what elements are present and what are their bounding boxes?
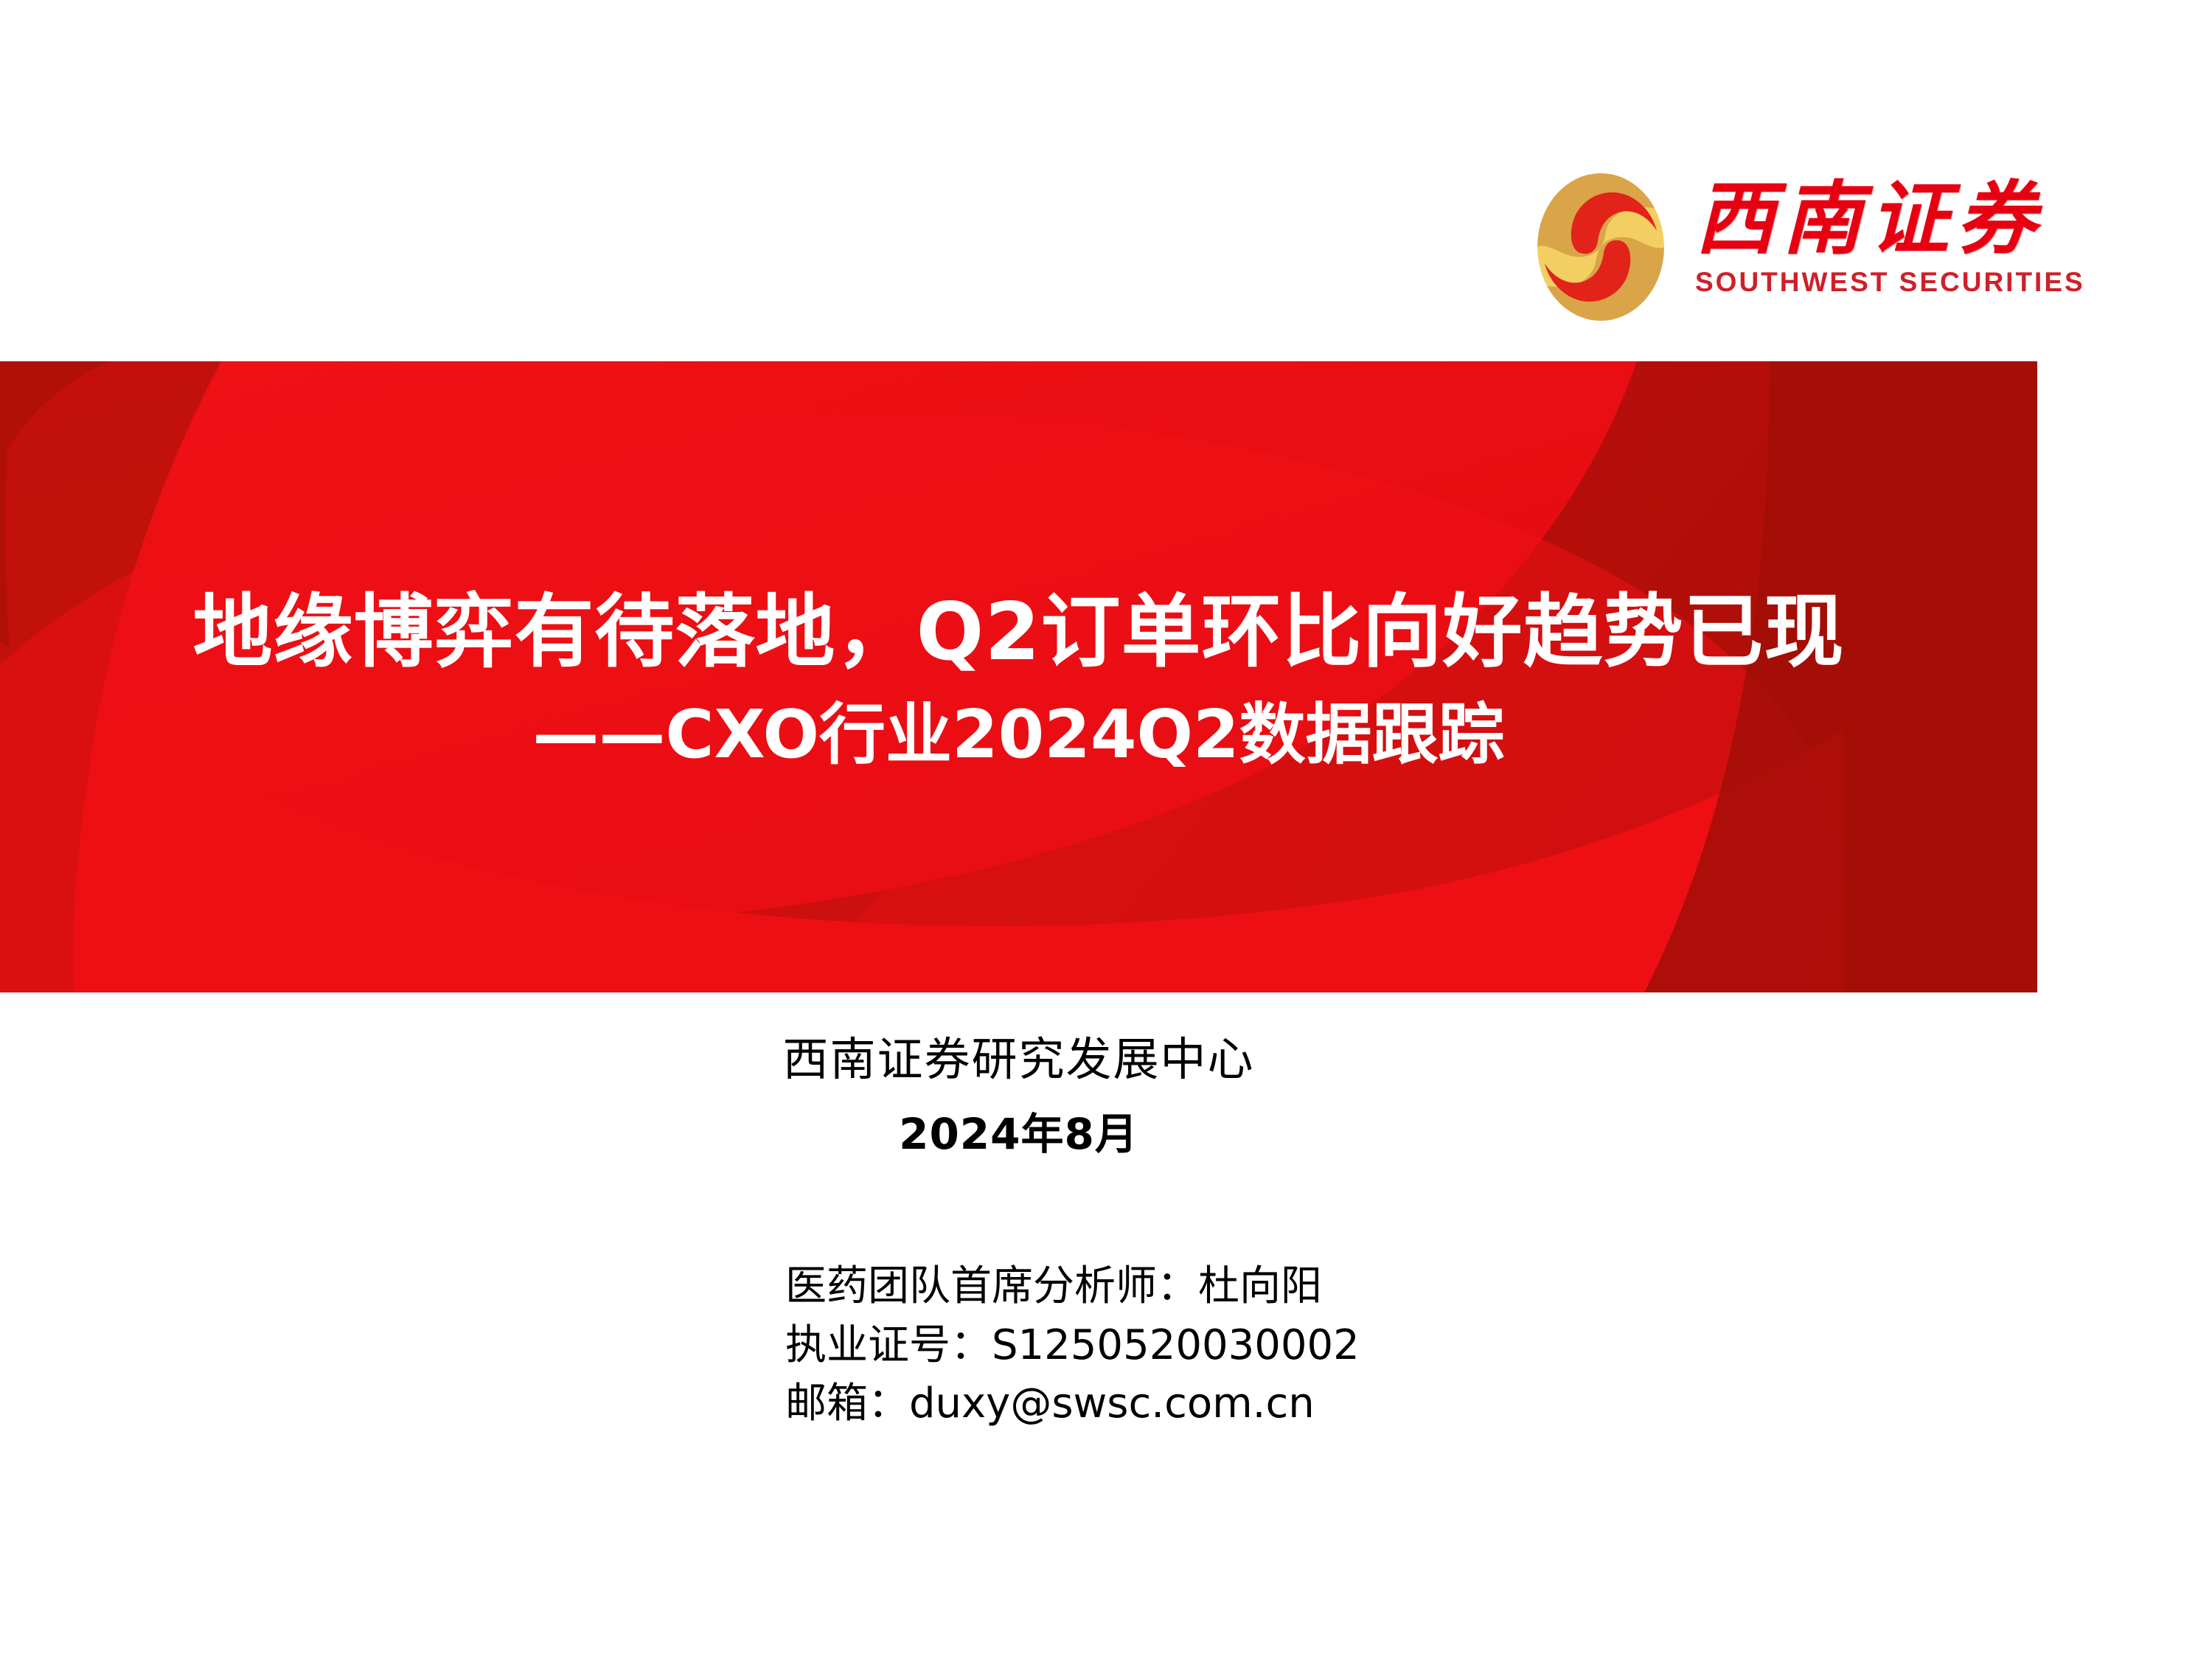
report-date: 2024年8月 — [0, 1107, 2037, 1162]
analyst-name-line: 医药团队首席分析师：杜向阳 — [785, 1257, 1360, 1316]
logo-english-name: SOUTHWEST SECURITIES — [1695, 267, 2085, 298]
department-name: 西南证券研究发展中心 — [0, 1029, 2037, 1091]
report-title: 地缘博弈有待落地，Q2订单环比向好趋势已现 — [193, 582, 1845, 684]
department-block: 西南证券研究发展中心 2024年8月 — [0, 1029, 2037, 1162]
banner-text-group: 地缘博弈有待落地，Q2订单环比向好趋势已现 ——CXO行业2024Q2数据跟踪 — [0, 361, 2037, 992]
southwest-securities-emblem-icon — [1537, 173, 1664, 321]
analyst-license-line: 执业证号：S1250520030002 — [785, 1316, 1360, 1375]
analyst-info-block: 医药团队首席分析师：杜向阳 执业证号：S1250520030002 邮箱：dux… — [785, 1257, 1360, 1433]
company-logo: 西南证券 SOUTHWEST SECURITIES — [1537, 173, 2098, 324]
logo-wordmark: 西南证券 SOUTHWEST SECURITIES — [1695, 173, 2085, 298]
title-banner: 地缘博弈有待落地，Q2订单环比向好趋势已现 ——CXO行业2024Q2数据跟踪 — [0, 361, 2037, 992]
analyst-email-line: 邮箱：duxy@swsc.com.cn — [785, 1374, 1360, 1433]
logo-chinese-name: 西南证券 — [1695, 178, 2043, 261]
report-subtitle: ——CXO行业2024Q2数据跟踪 — [532, 692, 1504, 778]
